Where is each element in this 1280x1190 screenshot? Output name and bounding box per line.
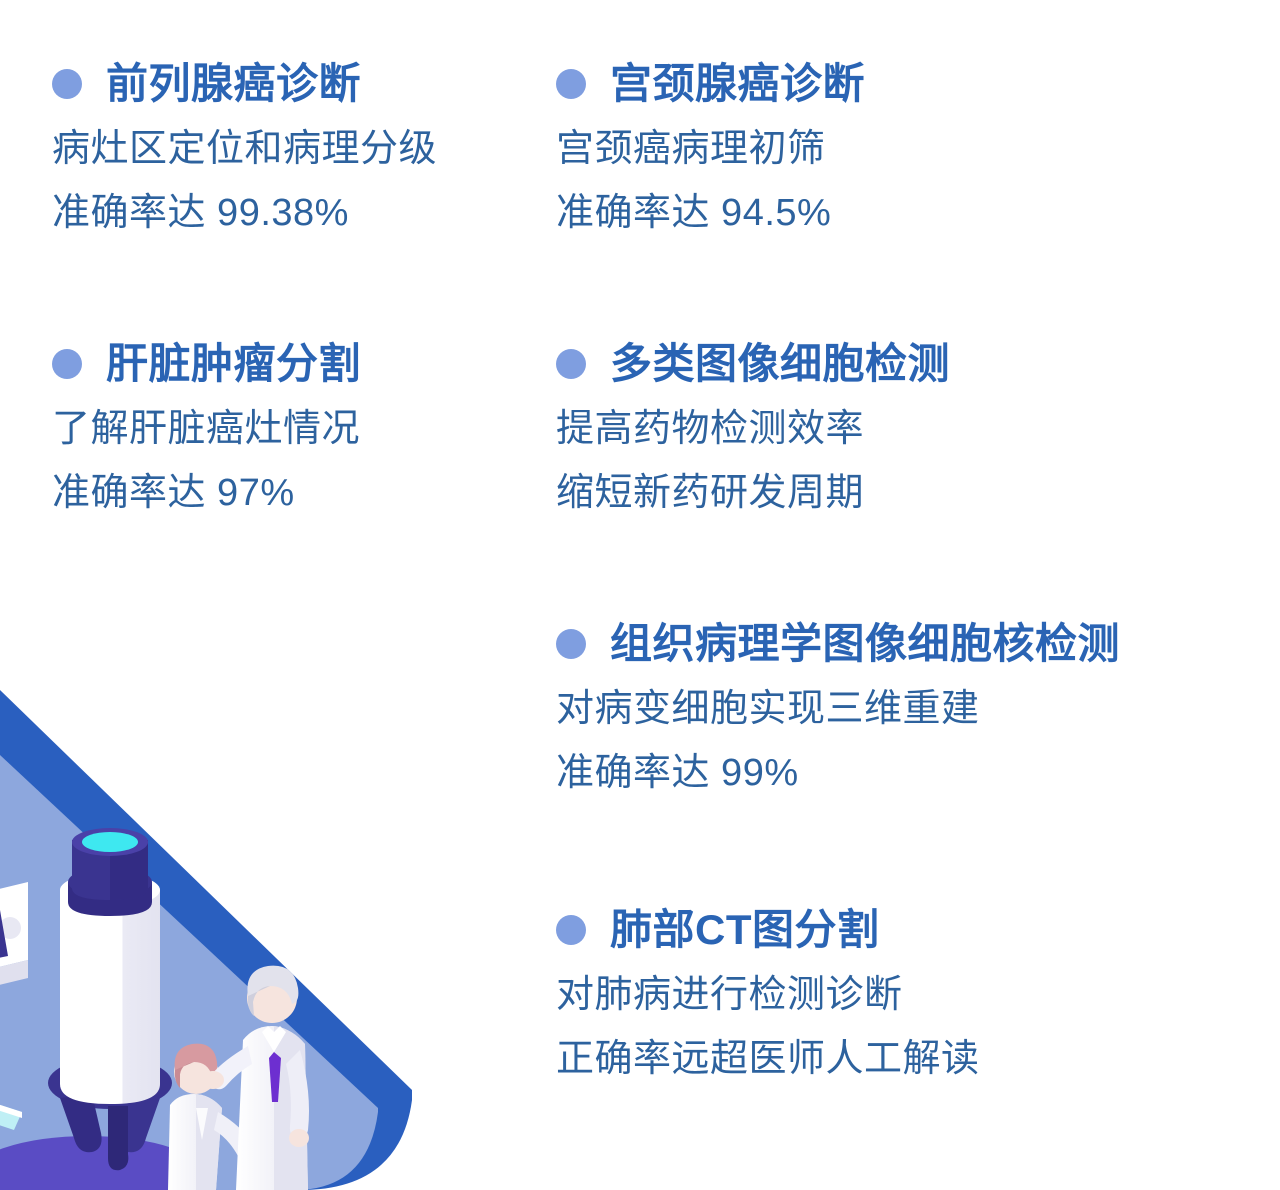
- infographic-page: 前列腺癌诊断 病灶区定位和病理分级 准确率达 99.38% 肝脏肿瘤分割 了解肝…: [0, 0, 1280, 1190]
- feature-heading: 多类图像细胞检测: [556, 342, 950, 386]
- feature-description: 对肺病进行检测诊断 正确率远超医师人工解读: [556, 976, 980, 1078]
- feature-accuracy-line: 准确率达 94.5%: [556, 194, 865, 232]
- feature-block-prostate-cancer-diagnosis: 前列腺癌诊断 病灶区定位和病理分级 准确率达 99.38%: [52, 62, 437, 232]
- feature-line: 对肺病进行检测诊断: [556, 976, 980, 1014]
- feature-heading: 肝脏肿瘤分割: [52, 342, 361, 386]
- microscope-and-scientists-illustration: [0, 660, 440, 1190]
- feature-heading: 肺部CT图分割: [556, 908, 980, 952]
- feature-description: 了解肝脏癌灶情况 准确率达 97%: [52, 410, 361, 512]
- bullet-dot-icon: [556, 629, 586, 659]
- bullet-dot-icon: [52, 69, 82, 99]
- feature-block-liver-tumor-segmentation: 肝脏肿瘤分割 了解肝脏癌灶情况 准确率达 97%: [52, 342, 361, 512]
- bullet-dot-icon: [556, 349, 586, 379]
- feature-description: 提高药物检测效率 缩短新药研发周期: [556, 410, 950, 512]
- bullet-dot-icon: [52, 349, 82, 379]
- feature-title: 宫颈腺癌诊断: [610, 62, 865, 106]
- feature-line: 缩短新药研发周期: [556, 474, 950, 512]
- feature-block-multiclass-image-cell-detection: 多类图像细胞检测 提高药物检测效率 缩短新药研发周期: [556, 342, 950, 512]
- feature-title: 肺部CT图分割: [610, 908, 880, 952]
- feature-accuracy-line: 准确率达 97%: [52, 474, 361, 512]
- feature-line: 宫颈癌病理初筛: [556, 130, 865, 168]
- feature-title: 多类图像细胞检测: [610, 342, 950, 386]
- feature-description: 宫颈癌病理初筛 准确率达 94.5%: [556, 130, 865, 232]
- feature-title: 前列腺癌诊断: [106, 62, 361, 106]
- feature-line: 对病变细胞实现三维重建: [556, 690, 1120, 728]
- feature-line: 病灶区定位和病理分级: [52, 130, 437, 168]
- bullet-dot-icon: [556, 915, 586, 945]
- feature-heading: 组织病理学图像细胞核检测: [556, 622, 1120, 666]
- feature-block-cervical-adenocarcinoma-diagnosis: 宫颈腺癌诊断 宫颈癌病理初筛 准确率达 94.5%: [556, 62, 865, 232]
- feature-title: 组织病理学图像细胞核检测: [610, 622, 1120, 666]
- bullet-dot-icon: [556, 69, 586, 99]
- feature-accuracy-line: 准确率达 99%: [556, 754, 1120, 792]
- feature-heading: 前列腺癌诊断: [52, 62, 437, 106]
- feature-block-histopathology-nucleus-detection: 组织病理学图像细胞核检测 对病变细胞实现三维重建 准确率达 99%: [556, 622, 1120, 792]
- feature-heading: 宫颈腺癌诊断: [556, 62, 865, 106]
- feature-line: 提高药物检测效率: [556, 410, 950, 448]
- feature-title: 肝脏肿瘤分割: [106, 342, 361, 386]
- microscope-eyepiece: [68, 828, 152, 916]
- feature-line: 正确率远超医师人工解读: [556, 1040, 980, 1078]
- feature-block-lung-ct-segmentation: 肺部CT图分割 对肺病进行检测诊断 正确率远超医师人工解读: [556, 908, 980, 1078]
- feature-description: 病灶区定位和病理分级 准确率达 99.38%: [52, 130, 437, 232]
- feature-line: 了解肝脏癌灶情况: [52, 410, 361, 448]
- feature-accuracy-line: 准确率达 99.38%: [52, 194, 437, 232]
- feature-description: 对病变细胞实现三维重建 准确率达 99%: [556, 690, 1120, 792]
